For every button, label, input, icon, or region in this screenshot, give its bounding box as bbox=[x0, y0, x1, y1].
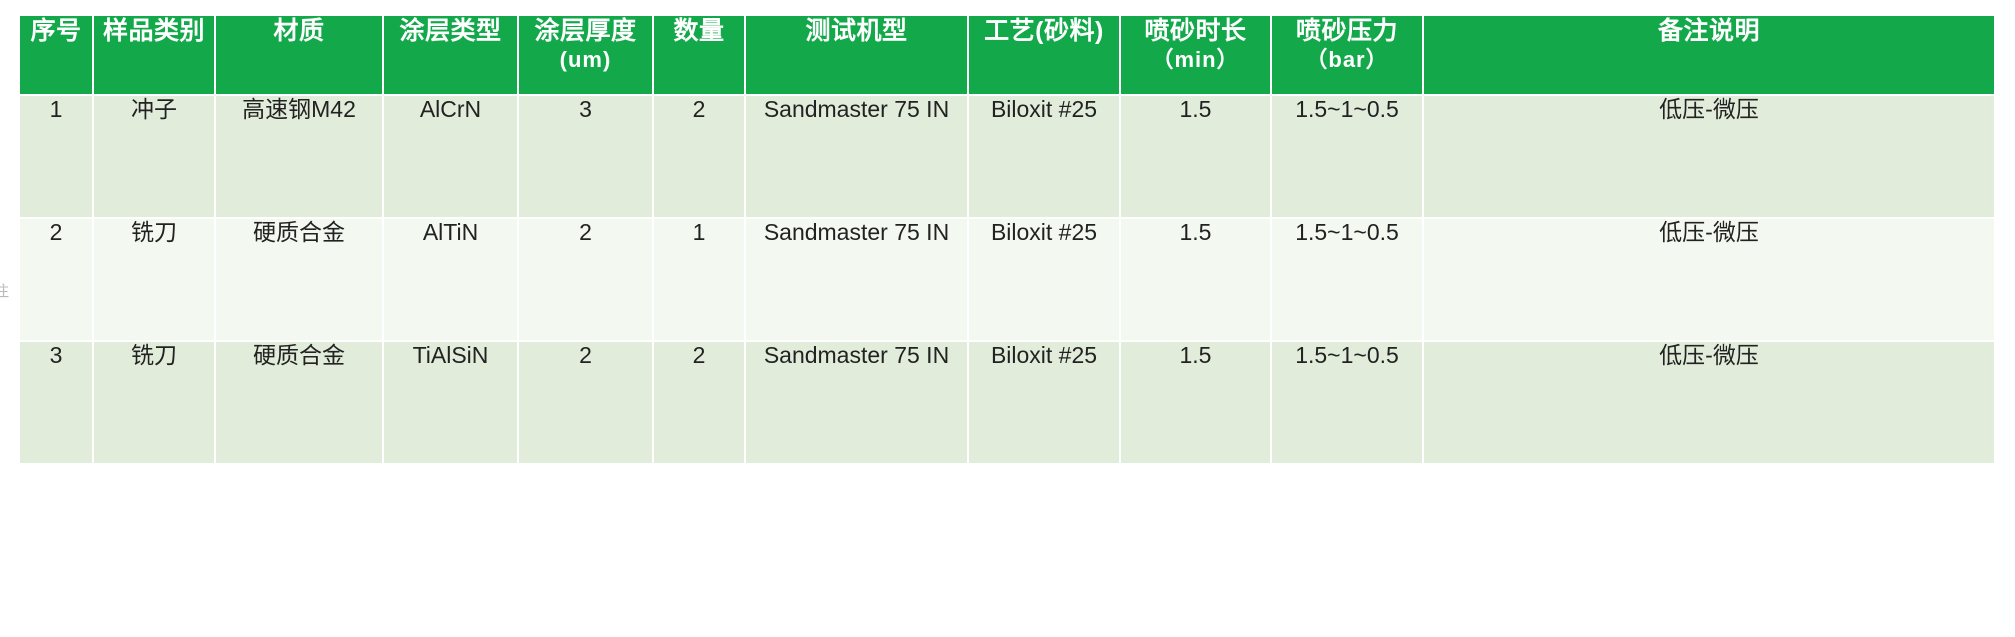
column-header-test-machine[interactable]: 测试机型 bbox=[746, 16, 967, 94]
cell-test-machine[interactable]: Sandmaster 75 IN bbox=[746, 96, 967, 217]
table-body: 1 冲子 高速钢M42 AlCrN 3 2 Sandmaster 75 IN B… bbox=[20, 96, 1994, 463]
cell-blast-time[interactable]: 1.5 bbox=[1121, 96, 1270, 217]
cell-material[interactable]: 高速钢M42 bbox=[216, 96, 382, 217]
cell-remark[interactable]: 低压-微压 bbox=[1424, 96, 1994, 217]
cell-coating-thickness[interactable]: 3 bbox=[519, 96, 652, 217]
column-header-unit: (um) bbox=[519, 47, 652, 74]
cell-index[interactable]: 2 bbox=[20, 219, 92, 340]
cell-blast-time[interactable]: 1.5 bbox=[1121, 219, 1270, 340]
cell-coating-type[interactable]: TiAlSiN bbox=[384, 342, 517, 463]
cell-material[interactable]: 硬质合金 bbox=[216, 342, 382, 463]
table-row[interactable]: 3 铣刀 硬质合金 TiAlSiN 2 2 Sandmaster 75 IN B… bbox=[20, 342, 1994, 463]
cell-coating-type[interactable]: AlTiN bbox=[384, 219, 517, 340]
cell-coating-thickness[interactable]: 2 bbox=[519, 219, 652, 340]
column-header-label: 喷砂时长 bbox=[1144, 17, 1246, 45]
cell-test-machine[interactable]: Sandmaster 75 IN bbox=[746, 342, 967, 463]
table-header: 序号 样品类别 材质 涂层类型 涂层厚度 (um) 数量 bbox=[20, 16, 1994, 94]
cell-blast-pressure[interactable]: 1.5~1~0.5 bbox=[1272, 342, 1422, 463]
column-header-label: 喷砂压力 bbox=[1296, 17, 1398, 45]
column-header-blast-pressure[interactable]: 喷砂压力 （bar） bbox=[1272, 16, 1422, 94]
column-header-label: 测试机型 bbox=[805, 17, 907, 45]
table-row[interactable]: 2 铣刀 硬质合金 AlTiN 2 1 Sandmaster 75 IN Bil… bbox=[20, 219, 1994, 340]
column-header-label: 涂层类型 bbox=[399, 17, 501, 45]
cell-blast-pressure[interactable]: 1.5~1~0.5 bbox=[1272, 219, 1422, 340]
cell-material[interactable]: 硬质合金 bbox=[216, 219, 382, 340]
cell-blast-pressure[interactable]: 1.5~1~0.5 bbox=[1272, 96, 1422, 217]
column-header-blast-time[interactable]: 喷砂时长 （min） bbox=[1121, 16, 1270, 94]
column-header-label: 备注说明 bbox=[1658, 17, 1760, 45]
cell-coating-type[interactable]: AlCrN bbox=[384, 96, 517, 217]
cell-test-machine[interactable]: Sandmaster 75 IN bbox=[746, 219, 967, 340]
column-header-sample-type[interactable]: 样品类别 bbox=[94, 16, 214, 94]
column-header-unit: （bar） bbox=[1272, 47, 1422, 74]
column-header-label: 工艺(砂料) bbox=[984, 17, 1104, 45]
column-header-coating-type[interactable]: 涂层类型 bbox=[384, 16, 517, 94]
cell-remark[interactable]: 低压-微压 bbox=[1424, 342, 1994, 463]
cell-process[interactable]: Biloxit #25 bbox=[969, 219, 1119, 340]
cell-index[interactable]: 3 bbox=[20, 342, 92, 463]
column-header-label: 样品类别 bbox=[103, 17, 205, 45]
data-table-container: 序号 样品类别 材质 涂层类型 涂层厚度 (um) 数量 bbox=[18, 14, 1992, 465]
cell-process[interactable]: Biloxit #25 bbox=[969, 342, 1119, 463]
table-row[interactable]: 1 冲子 高速钢M42 AlCrN 3 2 Sandmaster 75 IN B… bbox=[20, 96, 1994, 217]
cell-quantity[interactable]: 2 bbox=[654, 96, 744, 217]
column-header-label: 序号 bbox=[30, 17, 81, 45]
cell-blast-time[interactable]: 1.5 bbox=[1121, 342, 1270, 463]
column-header-unit: （min） bbox=[1121, 47, 1270, 74]
sample-blasting-parameters-table: 序号 样品类别 材质 涂层类型 涂层厚度 (um) 数量 bbox=[18, 14, 1996, 465]
cell-sample-type[interactable]: 冲子 bbox=[94, 96, 214, 217]
table-header-row: 序号 样品类别 材质 涂层类型 涂层厚度 (um) 数量 bbox=[20, 16, 1994, 94]
column-header-coating-thickness[interactable]: 涂层厚度 (um) bbox=[519, 16, 652, 94]
cell-sample-type[interactable]: 铣刀 bbox=[94, 342, 214, 463]
column-header-label: 材质 bbox=[273, 17, 324, 45]
cell-remark[interactable]: 低压-微压 bbox=[1424, 219, 1994, 340]
column-header-process[interactable]: 工艺(砂料) bbox=[969, 16, 1119, 94]
column-header-index[interactable]: 序号 bbox=[20, 16, 92, 94]
column-header-material[interactable]: 材质 bbox=[216, 16, 382, 94]
column-header-label: 数量 bbox=[673, 17, 724, 45]
column-header-label: 涂层厚度 bbox=[534, 17, 636, 45]
cell-quantity[interactable]: 2 bbox=[654, 342, 744, 463]
cell-coating-thickness[interactable]: 2 bbox=[519, 342, 652, 463]
cell-quantity[interactable]: 1 bbox=[654, 219, 744, 340]
column-header-remark[interactable]: 备注说明 bbox=[1424, 16, 1994, 94]
cell-index[interactable]: 1 bbox=[20, 96, 92, 217]
page-margin-bleed: 注 bbox=[0, 281, 10, 327]
column-header-quantity[interactable]: 数量 bbox=[654, 16, 744, 94]
cell-sample-type[interactable]: 铣刀 bbox=[94, 219, 214, 340]
cell-process[interactable]: Biloxit #25 bbox=[969, 96, 1119, 217]
